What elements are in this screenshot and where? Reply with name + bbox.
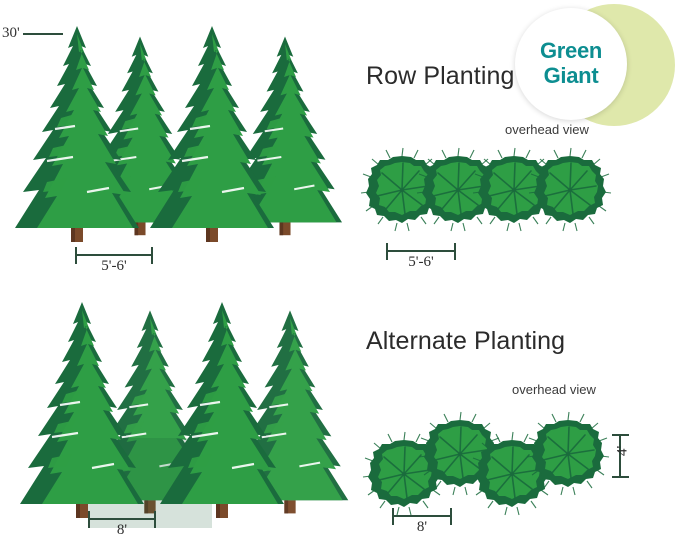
alternate-offset-label: 4' (615, 446, 632, 456)
row-spacing-label: 5'-6' (75, 258, 153, 275)
row-spacing-label-overhead: 5'-6' (386, 254, 456, 271)
dimension-bar (392, 515, 452, 517)
green-giant-logo: Green Giant (515, 2, 679, 130)
alternate-spacing-dimension-overhead: 8' (392, 508, 452, 540)
logo-line-two: Giant (544, 64, 599, 89)
row-planting-overhead-view (362, 150, 622, 230)
row-spacing-dimension-overhead: 5'-6' (386, 243, 456, 275)
logo-line-one: Green (540, 39, 602, 64)
alternate-spacing-label-overhead: 8' (392, 519, 452, 536)
row-planting-side-view (0, 20, 350, 265)
tree-side-view (160, 302, 284, 518)
alternate-overhead-view-label: overhead view (512, 382, 596, 397)
tree-height-value: 30' (2, 25, 20, 42)
alternate-spacing-label: 8' (88, 522, 156, 539)
alternate-planting-side-view (0, 288, 350, 538)
alternate-offset-dimension: 4' (612, 434, 646, 478)
tree-height-leader-line (23, 33, 63, 35)
logo-wordmark: Green Giant (515, 8, 627, 120)
alternate-planting-overhead-view (362, 412, 632, 512)
planting-guide-infographic: 30' 5'-6' Row Planting Green Giant overh… (0, 0, 679, 545)
tree-side-view (150, 26, 274, 242)
dimension-bar (75, 254, 153, 256)
row-spacing-dimension-side: 5'-6' (75, 247, 153, 279)
tree-side-view (20, 302, 144, 518)
row-planting-title: Row Planting (366, 62, 515, 91)
row-overhead-view-label: overhead view (505, 122, 589, 137)
alternate-planting-title: Alternate Planting (366, 327, 565, 356)
dimension-tick-bottom (612, 476, 629, 478)
alternate-spacing-dimension-side: 8' (88, 511, 156, 543)
dimension-tick-top (612, 434, 629, 436)
dimension-bar (386, 250, 456, 252)
tree-canopy-overhead (529, 148, 611, 231)
dimension-bar (88, 518, 156, 520)
dimension-bar (619, 434, 621, 478)
tree-height-callout: 30' (2, 25, 63, 42)
